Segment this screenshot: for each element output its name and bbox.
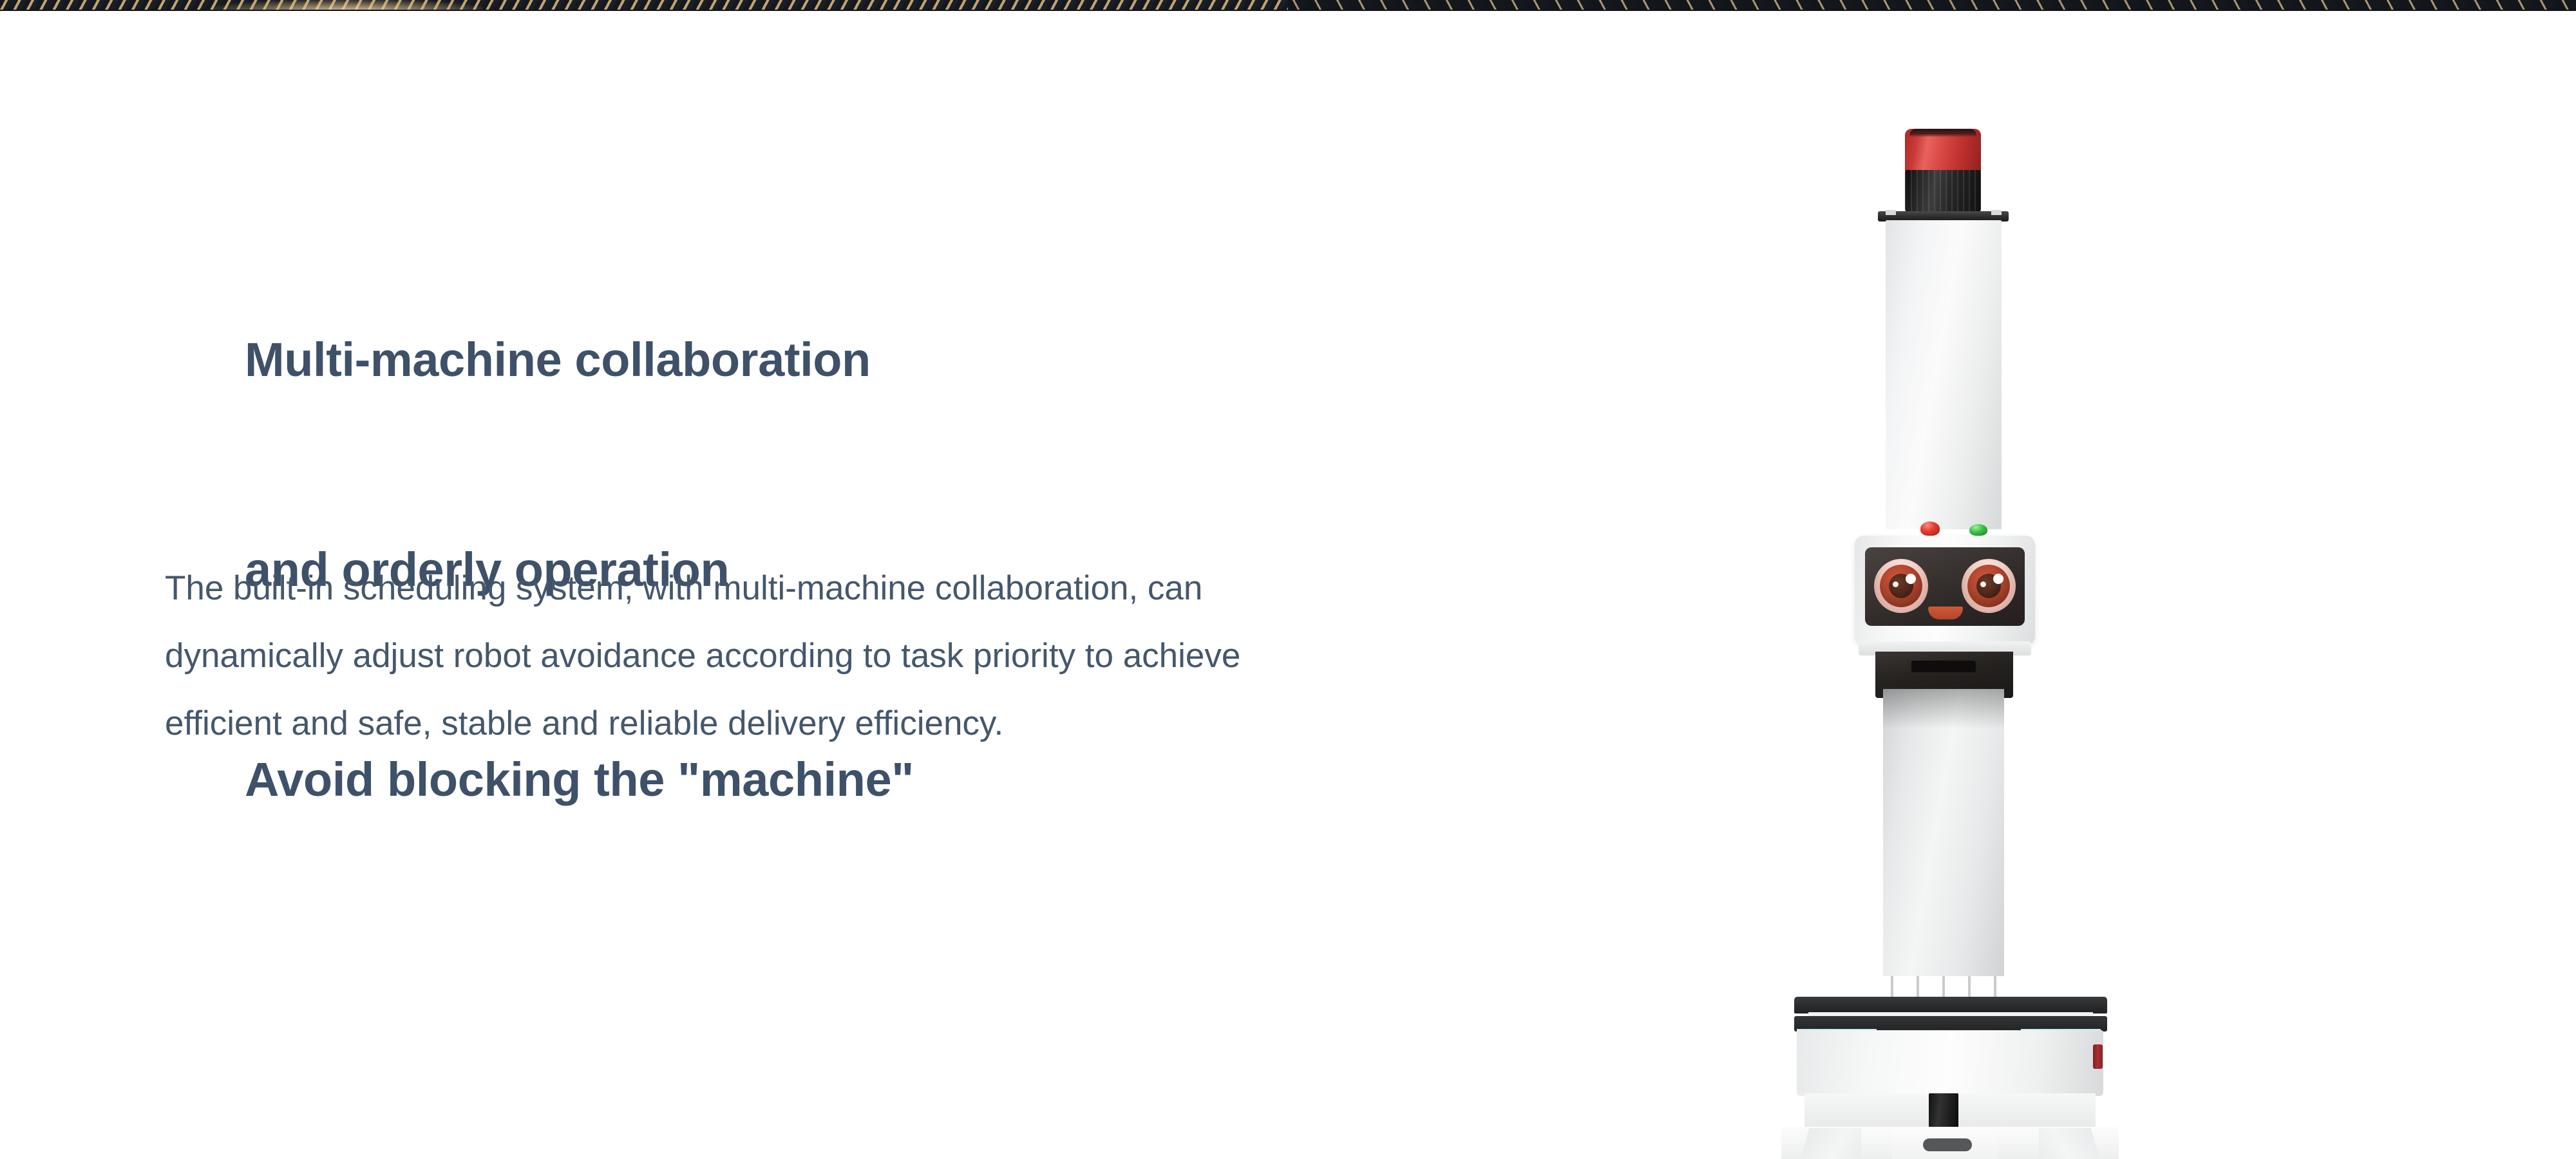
beacon-mount-foot-right <box>1991 210 2002 215</box>
skirt-pocket-right <box>2039 1128 2101 1159</box>
right-iris <box>1967 565 2010 607</box>
upper-column <box>1886 220 2002 529</box>
left-eye <box>1874 559 1928 613</box>
image-edge-strip <box>0 0 2576 11</box>
robot-face-screen <box>1865 547 2025 626</box>
green-indicator-light <box>1969 524 1987 536</box>
main-column <box>1883 689 2004 998</box>
warning-beacon-lens <box>1905 129 1981 173</box>
tray-handle-slot <box>1911 661 1976 672</box>
delivery-robot-illustration <box>1732 97 2170 1140</box>
body-paragraph: The built-in scheduling system, with mul… <box>165 555 1363 758</box>
left-iris <box>1880 565 1922 607</box>
warning-beacon-base <box>1905 170 1981 214</box>
skirt-pocket-left <box>1799 1128 1861 1159</box>
red-indicator-light <box>1920 522 1940 536</box>
chassis-body <box>1797 1030 2103 1096</box>
beacon-mount-foot-left <box>1886 210 1896 215</box>
text-column: Multi-machine collaboration and orderly … <box>0 11 1417 1159</box>
right-eye-highlight-small <box>1980 581 1986 587</box>
right-eye-highlight <box>1993 574 2003 584</box>
left-eye-highlight <box>1906 574 1916 584</box>
skirt-badge <box>1923 1138 1972 1151</box>
slide-root: Multi-machine collaboration and orderly … <box>0 0 2576 1159</box>
left-eye-highlight-small <box>1893 581 1899 587</box>
emergency-stop-button[interactable] <box>2093 1044 2103 1069</box>
chassis-deck-top <box>1794 997 2107 1013</box>
robot-mouth <box>1928 607 1963 619</box>
right-eye <box>1962 559 2016 613</box>
navigation-lidar <box>1929 1093 1958 1129</box>
headline-line-1: Multi-machine collaboration <box>245 325 1288 395</box>
main-column-shadow <box>1883 689 2004 729</box>
